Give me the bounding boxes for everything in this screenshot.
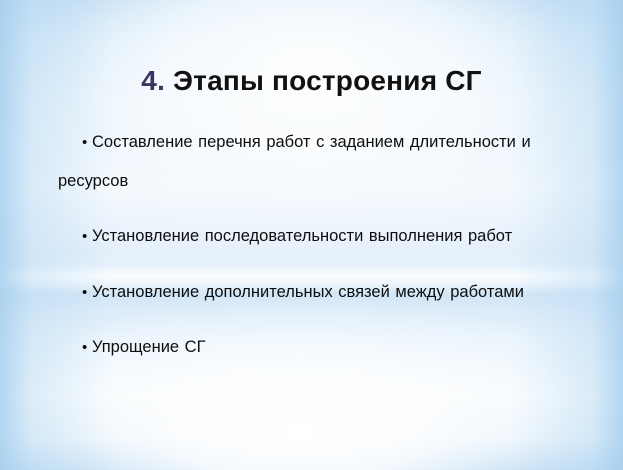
bullet-text: Установление последовательности выполнен… bbox=[92, 227, 512, 245]
bullet-icon: • bbox=[70, 217, 92, 256]
slide-title-text-value: Этапы построения СГ bbox=[173, 65, 482, 96]
slide-title-text: Этапы построения СГ bbox=[165, 65, 482, 96]
bullet-paragraph: •Установление последовательности выполне… bbox=[58, 217, 604, 256]
bullet-paragraph: •Установление дополнительных связей межд… bbox=[58, 273, 604, 312]
bullet-text: Составление перечня работ с заданием дли… bbox=[58, 133, 531, 190]
list-item: •Установление дополнительных связей межд… bbox=[58, 273, 604, 312]
bullet-text: Упрощение СГ bbox=[92, 338, 206, 356]
bullet-paragraph: •Составление перечня работ с заданием дл… bbox=[58, 123, 604, 201]
slide-title: 4. Этапы построения СГ bbox=[0, 65, 623, 97]
bullet-icon: • bbox=[70, 273, 92, 312]
bullet-icon: • bbox=[70, 328, 92, 367]
slide-title-number: 4. bbox=[141, 65, 165, 96]
slide-canvas: 4. Этапы построения СГ •Составление пере… bbox=[0, 0, 623, 470]
bullet-text: Установление дополнительных связей между… bbox=[92, 283, 524, 301]
slide-body: •Составление перечня работ с заданием дл… bbox=[58, 106, 604, 384]
bullet-paragraph: •Упрощение СГ bbox=[58, 328, 604, 367]
list-item: •Составление перечня работ с заданием дл… bbox=[58, 123, 604, 201]
list-item: •Установление последовательности выполне… bbox=[58, 217, 604, 256]
bullet-icon: • bbox=[70, 123, 92, 162]
list-item: •Упрощение СГ bbox=[58, 328, 604, 367]
